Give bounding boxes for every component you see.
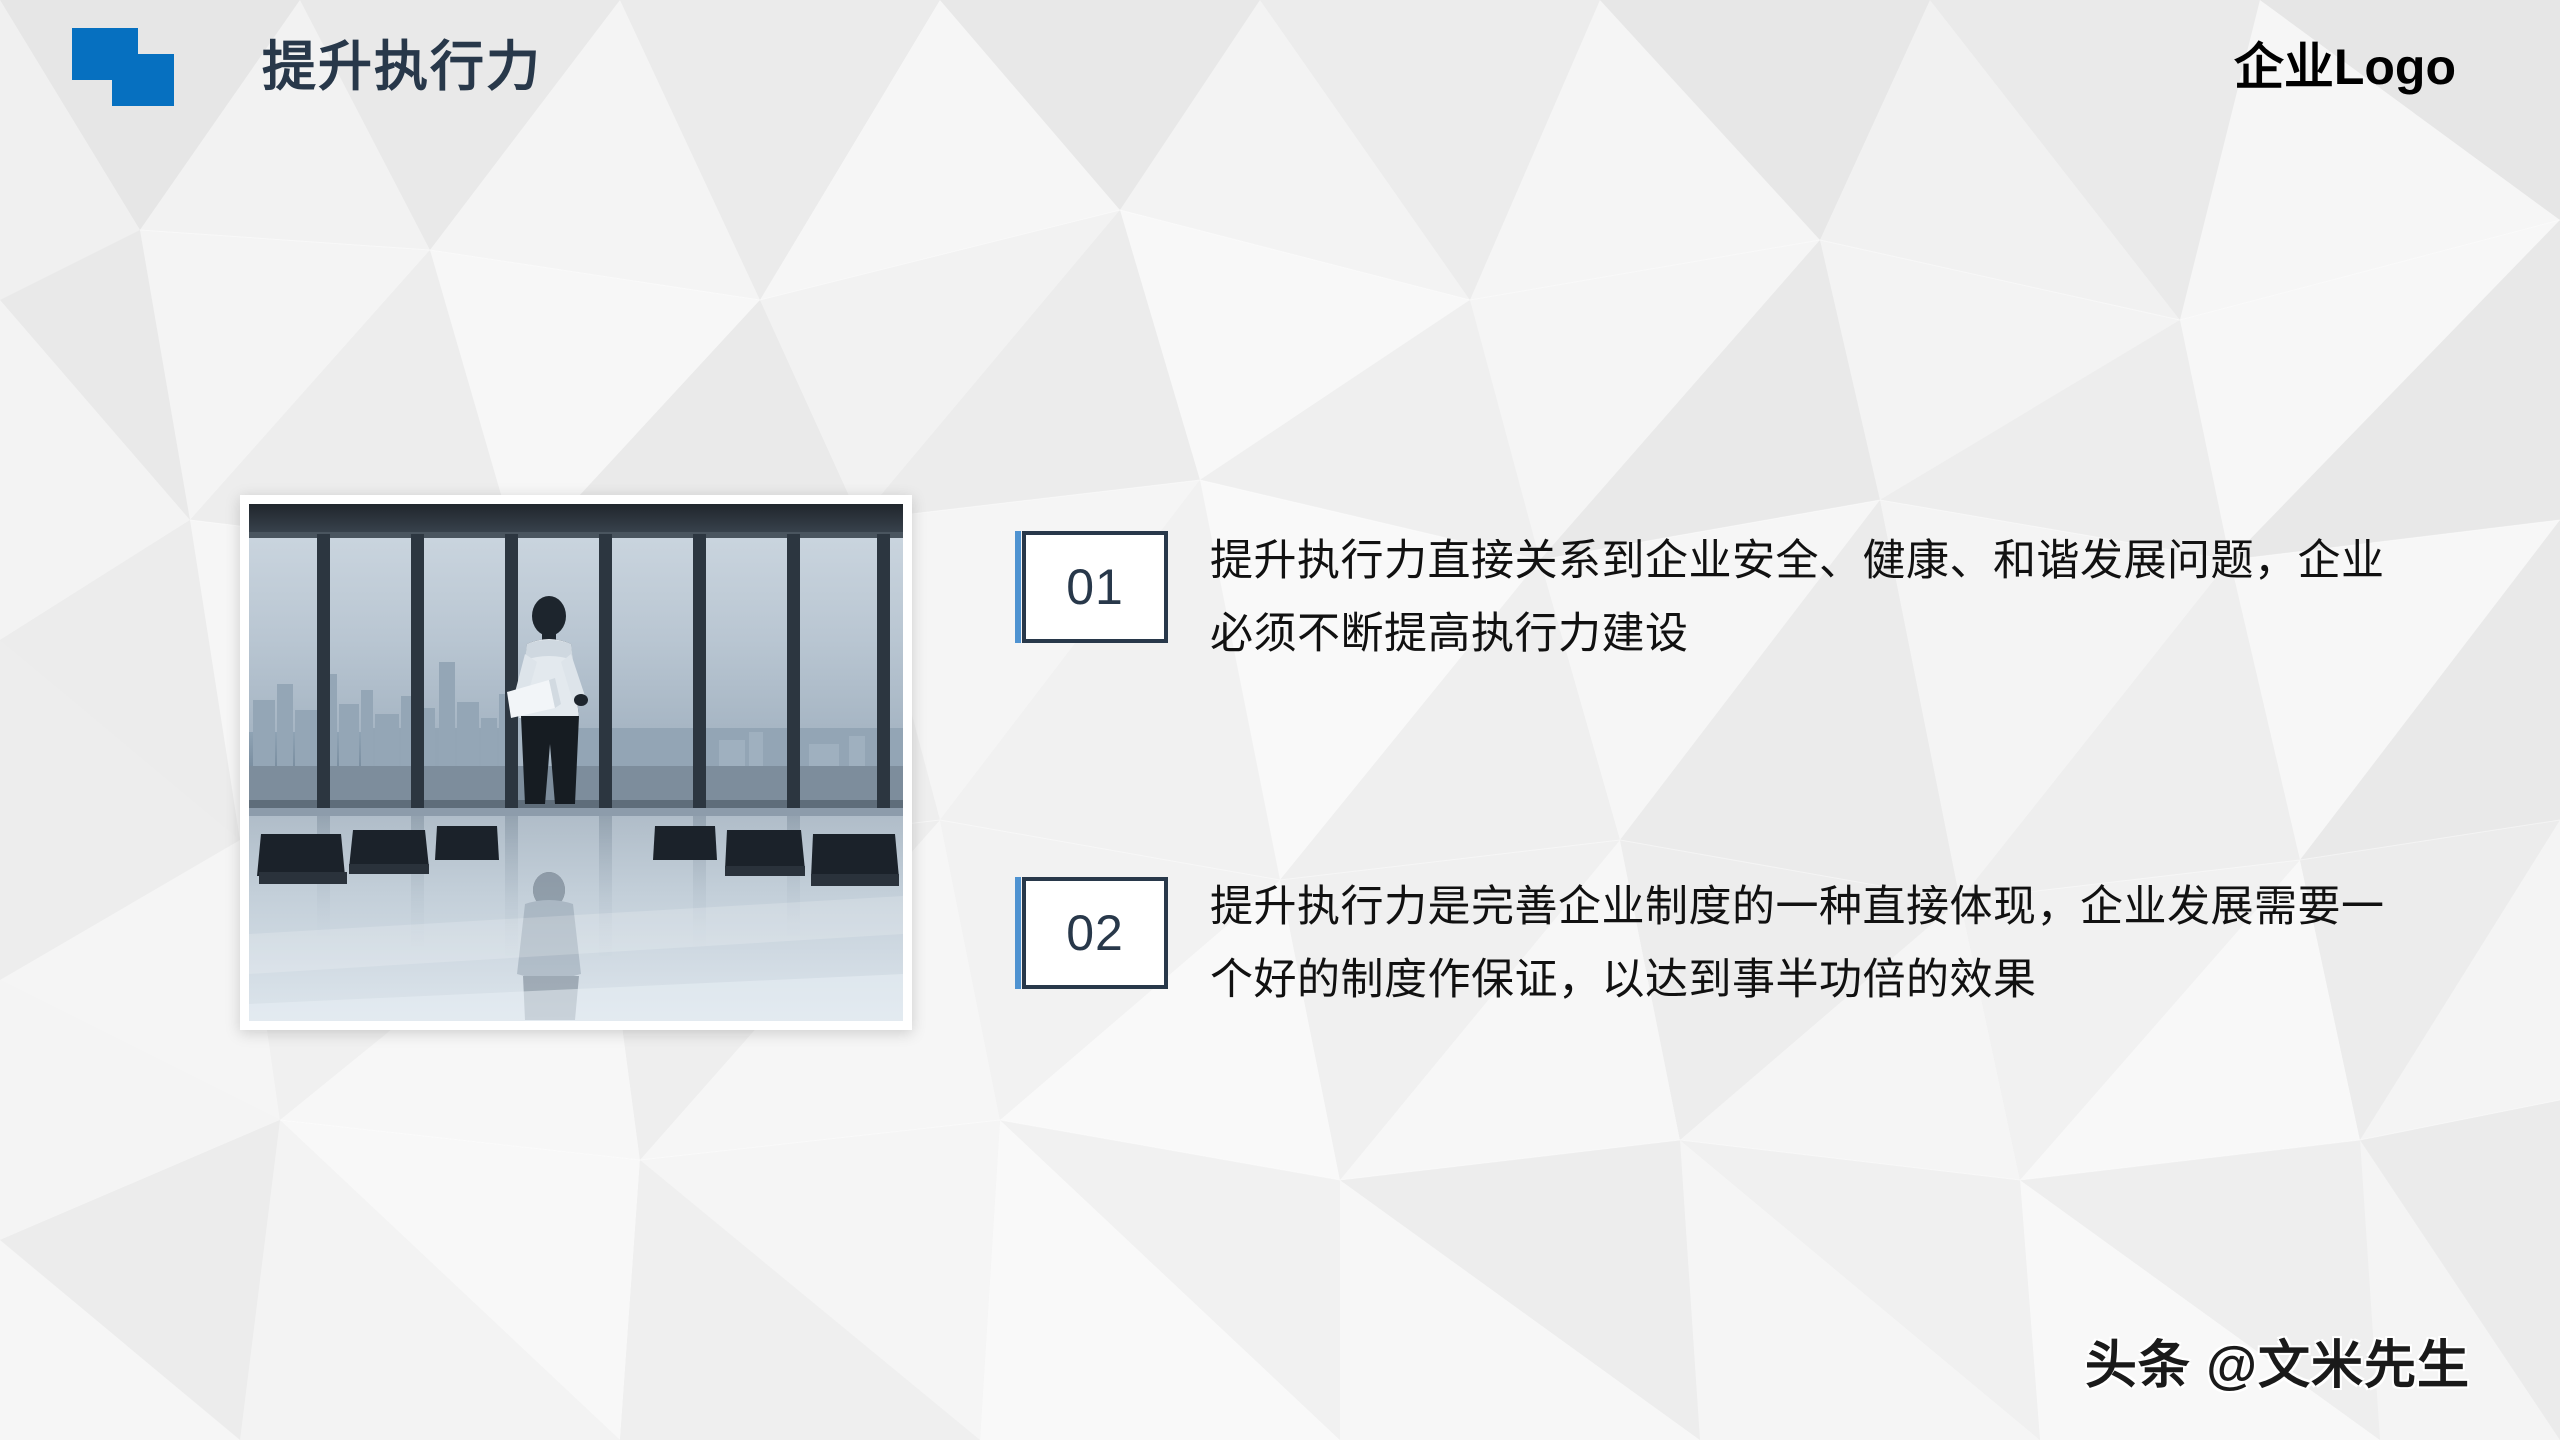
number-label: 01 xyxy=(1066,559,1124,615)
brand-logo-text: 企业Logo xyxy=(2234,36,2456,98)
watermark-text: 头条 @文米先生 xyxy=(2085,1323,2470,1398)
slide-header: 提升执行力 企业Logo xyxy=(0,0,2560,150)
content-items: 01 提升执行力直接关系到企业安全、健康、和谐发展问题，企业必须不断提高执行力建… xyxy=(1022,480,2452,1017)
number-label: 02 xyxy=(1066,905,1124,961)
number-badge-02: 02 xyxy=(1022,877,1168,989)
content-item-01: 01 提升执行力直接关系到企业安全、健康、和谐发展问题，企业必须不断提高执行力建… xyxy=(1022,525,2452,671)
photo-card xyxy=(240,495,912,1030)
number-badge-01: 01 xyxy=(1022,531,1168,643)
item-description-02: 提升执行力是完善企业制度的一种直接体现，企业发展需要一个好的制度作保证，以达到事… xyxy=(1210,871,2390,1017)
content-item-02: 02 提升执行力是完善企业制度的一种直接体现，企业发展需要一个好的制度作保证，以… xyxy=(1022,871,2452,1017)
item-description-01: 提升执行力直接关系到企业安全、健康、和谐发展问题，企业必须不断提高执行力建设 xyxy=(1210,525,2390,671)
conference-room-photo xyxy=(249,504,903,1021)
photo-frame xyxy=(249,504,903,1021)
logo-square-lower xyxy=(112,54,174,106)
page-title: 提升执行力 xyxy=(262,34,542,100)
stacked-squares-icon xyxy=(72,28,174,106)
slide-canvas: 提升执行力 企业Logo xyxy=(0,0,2560,1440)
